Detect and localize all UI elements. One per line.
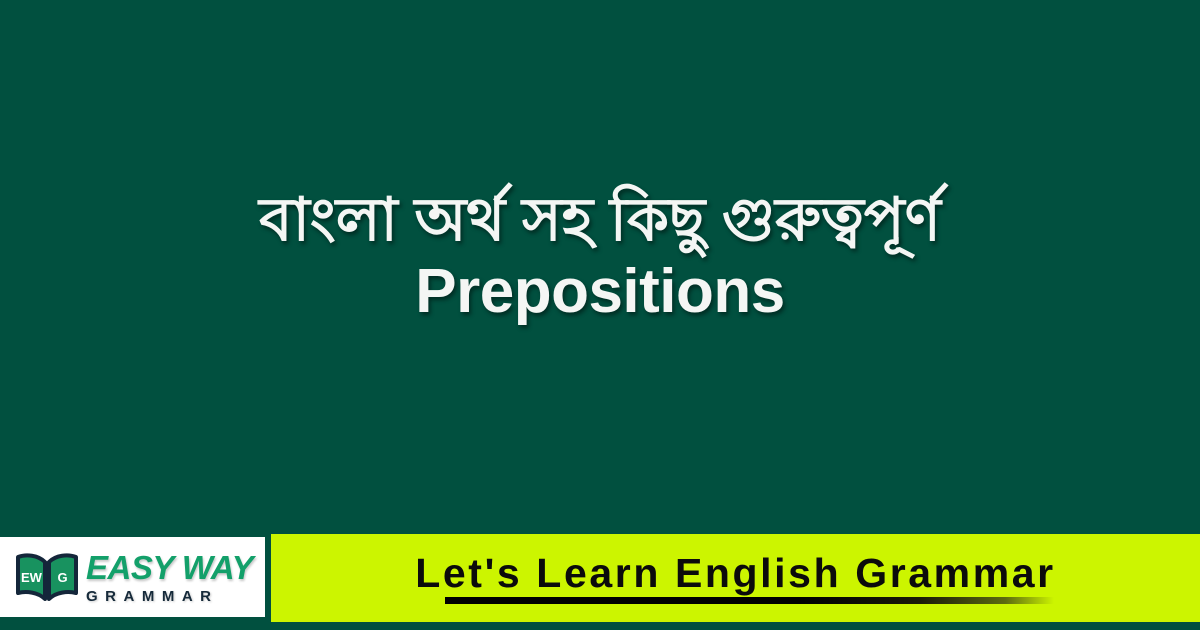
footer-bar: EW G EASY WAY GRAMMAR Let's Learn Englis…: [0, 530, 1200, 630]
page-title: বাংলা অর্থ সহ কিছু গুরুত্বপূর্ণ Preposit…: [0, 188, 1200, 326]
logo-left-page-label: EW: [21, 570, 43, 585]
tagline-wrapper: Let's Learn English Grammar: [411, 553, 1059, 604]
tagline-text: Let's Learn English Grammar: [415, 553, 1055, 594]
brand-logo[interactable]: EW G EASY WAY GRAMMAR: [0, 537, 265, 617]
title-line-bengali: বাংলা অর্থ সহ কিছু গুরুত্বপূর্ণ: [0, 188, 1200, 259]
tagline-underline: [445, 597, 1053, 604]
poster-canvas: বাংলা অর্থ সহ কিছু গুরুত্বপূর্ণ Preposit…: [0, 0, 1200, 630]
logo-brand-secondary: GRAMMAR: [86, 589, 253, 604]
title-line-english: Prepositions: [0, 259, 1200, 326]
open-book-icon: EW G: [14, 547, 80, 607]
logo-brand-primary: EASY WAY: [86, 551, 253, 584]
tagline-banner: Let's Learn English Grammar: [271, 534, 1200, 622]
logo-right-page-label: G: [57, 570, 67, 585]
logo-wordmark: EASY WAY GRAMMAR: [86, 551, 253, 604]
